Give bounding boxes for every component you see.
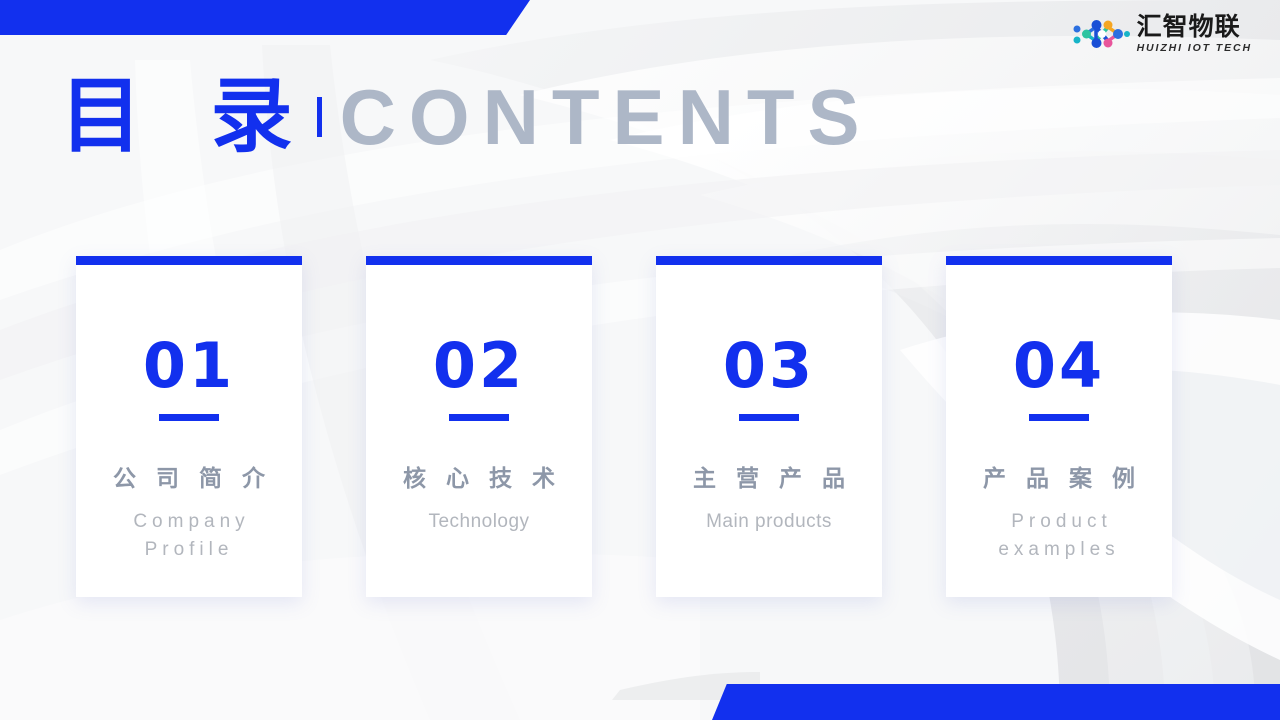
contents-card-list: 01 公 司 简 介 Company Profile 02 核 心 技 术 Te…: [76, 256, 1172, 597]
card-number: 04: [1013, 335, 1105, 397]
huizhi-molecule-logo-icon: [1073, 14, 1131, 54]
card-title-cn: 核 心 技 术: [397, 467, 561, 492]
page-title: 目 录 CONTENTS: [60, 76, 873, 158]
logo-name-en: HUIZHI IOT TECH: [1137, 43, 1252, 54]
card-title-en: Company Profile: [84, 508, 294, 563]
card-accent-bar: [656, 256, 882, 265]
card-title-cn: 产 品 案 例: [977, 467, 1141, 492]
card-accent-bar: [76, 256, 302, 265]
card-accent-bar: [366, 256, 592, 265]
card-title-en: Product examples: [954, 508, 1164, 563]
card-divider: [449, 414, 509, 421]
card-number: 01: [143, 335, 235, 397]
company-logo: 汇智物联 HUIZHI IOT TECH: [1073, 14, 1252, 54]
card-title-en: Technology: [428, 508, 529, 536]
card-number: 02: [433, 335, 525, 397]
page-title-en: CONTENTS: [340, 78, 873, 156]
card-accent-bar: [946, 256, 1172, 265]
contents-card-04[interactable]: 04 产 品 案 例 Product examples: [946, 256, 1172, 597]
card-title-en: Main products: [706, 508, 832, 536]
card-divider: [739, 414, 799, 421]
bottom-accent-bar: [712, 684, 1280, 720]
card-divider: [159, 414, 219, 421]
card-number: 03: [723, 335, 815, 397]
card-title-cn: 公 司 简 介: [107, 467, 271, 492]
contents-card-01[interactable]: 01 公 司 简 介 Company Profile: [76, 256, 302, 597]
logo-name-cn: 汇智物联: [1137, 14, 1252, 39]
contents-card-02[interactable]: 02 核 心 技 术 Technology: [366, 256, 592, 597]
logo-text: 汇智物联 HUIZHI IOT TECH: [1137, 14, 1252, 54]
top-accent-bar: [0, 0, 530, 35]
title-separator-icon: [317, 97, 322, 137]
page-title-cn: 目 录: [60, 76, 313, 158]
contents-card-03[interactable]: 03 主 营 产 品 Main products: [656, 256, 882, 597]
slide-canvas: 汇智物联 HUIZHI IOT TECH 目 录 CONTENTS 01 公 司…: [0, 0, 1280, 720]
card-title-cn: 主 营 产 品: [687, 467, 851, 492]
card-divider: [1029, 414, 1089, 421]
